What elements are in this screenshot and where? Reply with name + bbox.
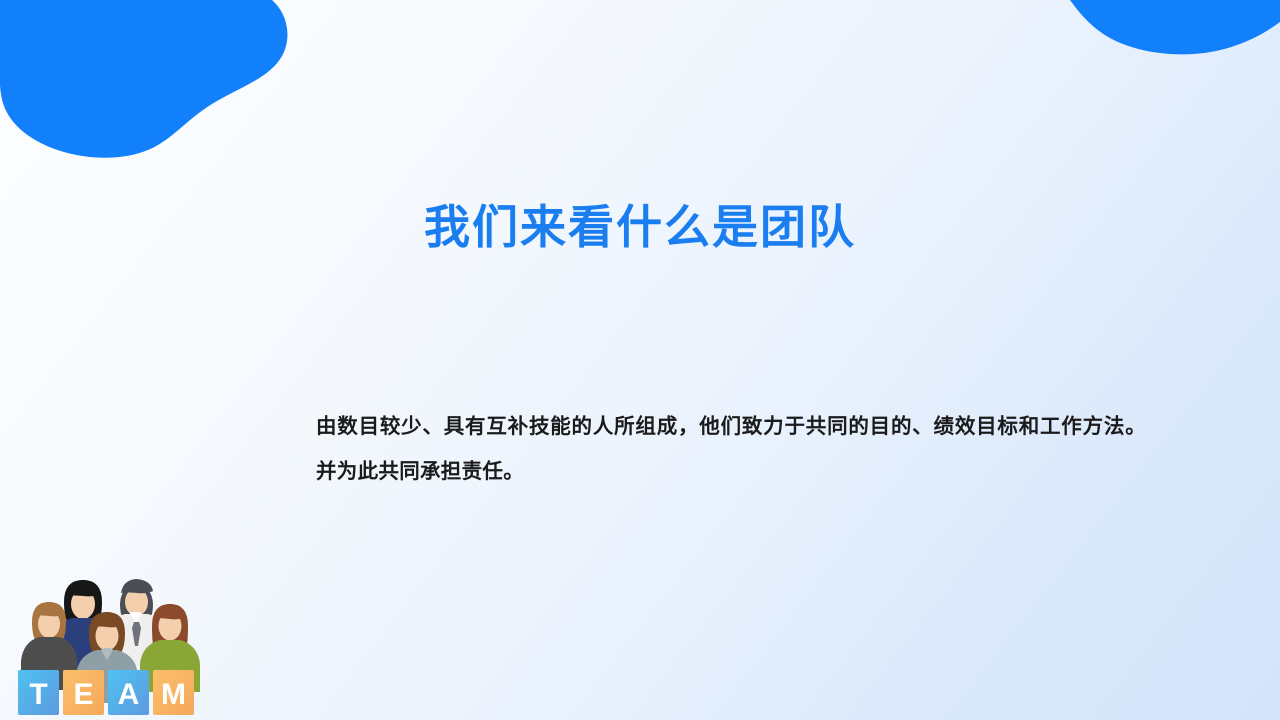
team-tile-letter: M: [161, 678, 186, 711]
team-tile-letter: T: [29, 678, 47, 711]
slide-canvas: 我们来看什么是团队 由数目较少、具有互补技能的人所组成，他们致力于共同的目的、绩…: [0, 0, 1280, 720]
team-tile-letter: A: [118, 678, 140, 711]
decorative-blob-top-right: [1070, 0, 1280, 66]
team-illustration: T E A M: [8, 540, 208, 720]
team-tile-letter: E: [73, 678, 93, 711]
team-tile-t: T: [18, 670, 59, 715]
team-tile-a: A: [108, 670, 149, 715]
team-tile-m: M: [153, 670, 194, 715]
slide-body-text: 由数目较少、具有互补技能的人所组成，他们致力于共同的目的、绩效目标和工作方法。并…: [316, 404, 1146, 494]
slide-title: 我们来看什么是团队: [0, 198, 1280, 256]
decorative-blob-top-left: [0, 0, 300, 175]
team-tile-e: E: [63, 670, 104, 715]
